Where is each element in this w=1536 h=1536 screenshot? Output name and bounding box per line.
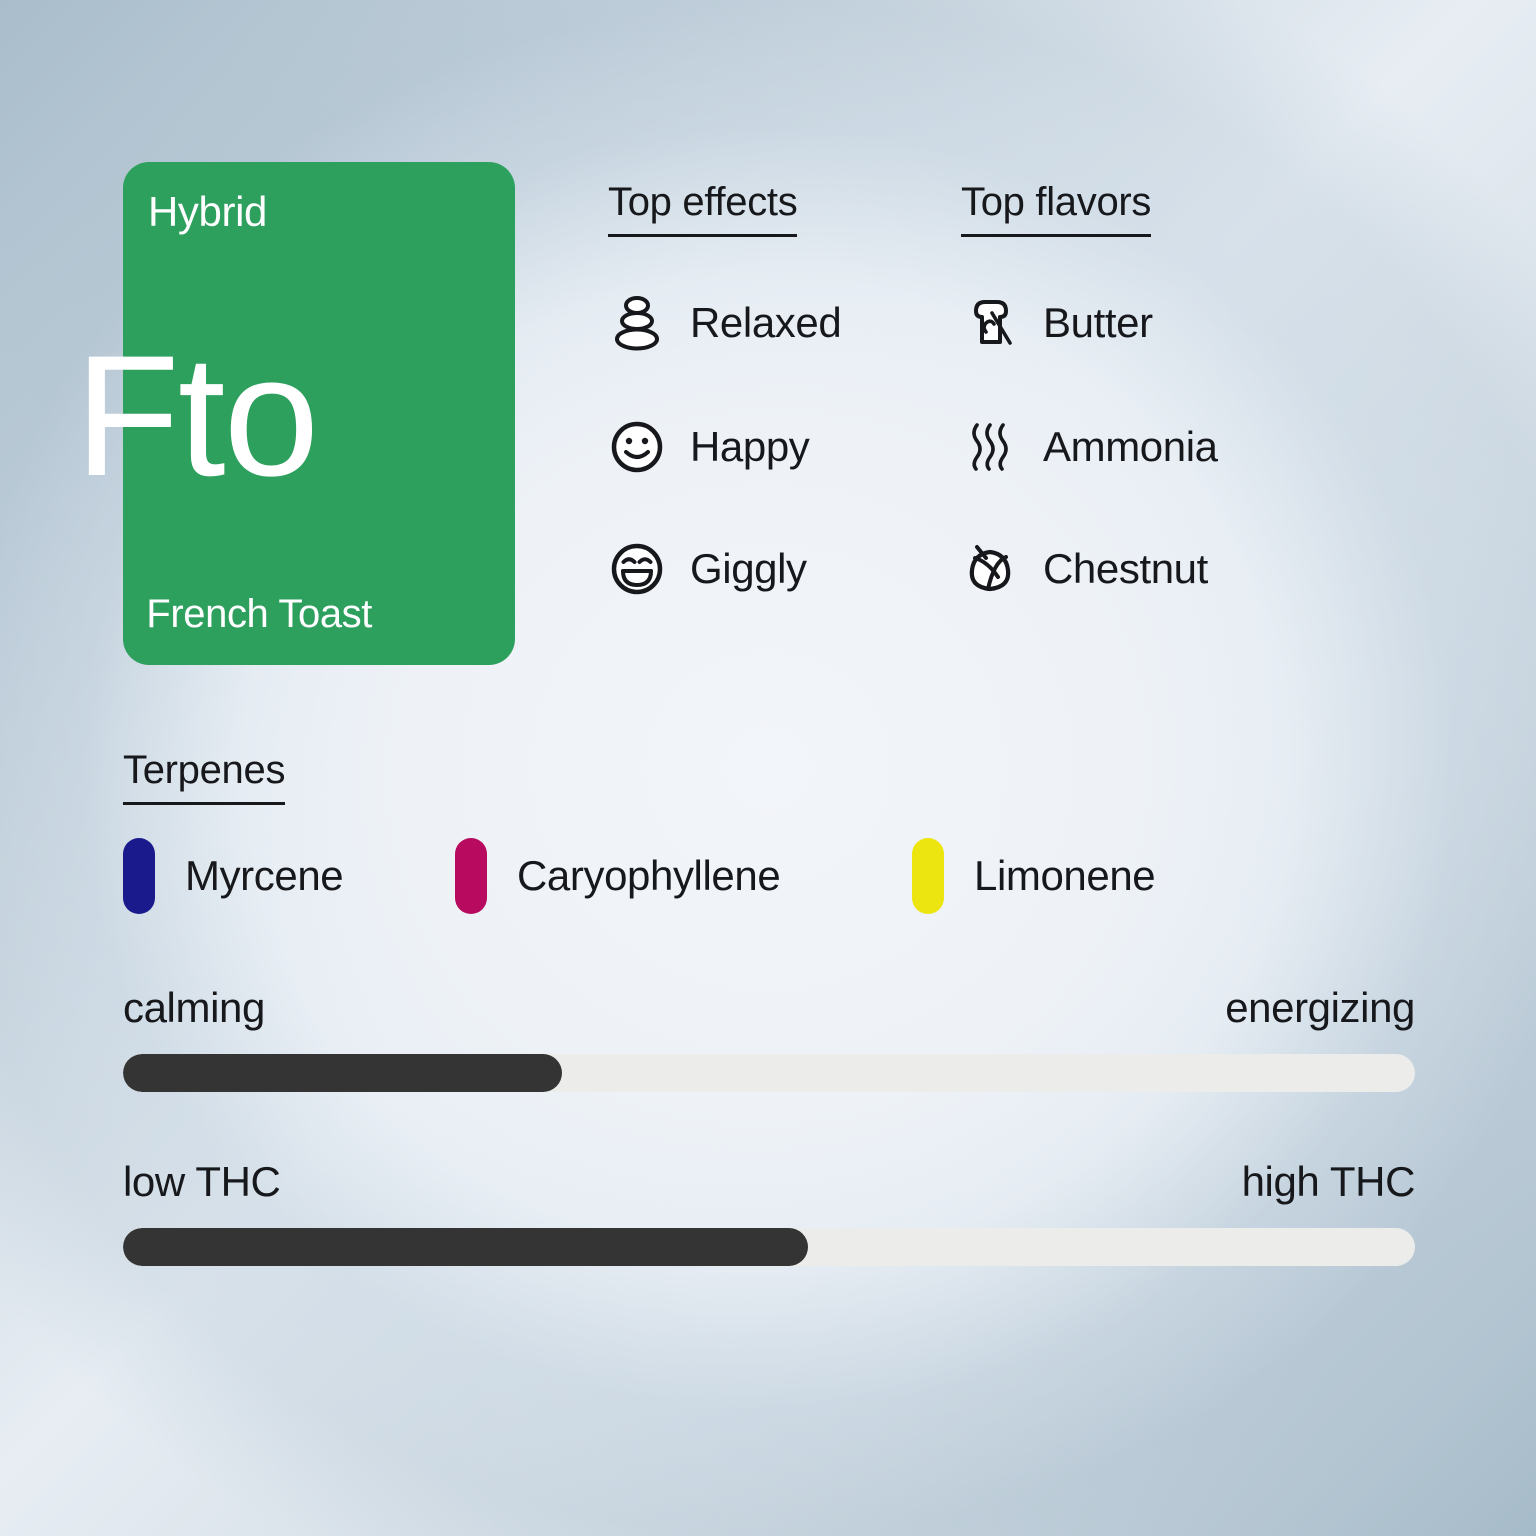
flavor-label: Butter: [1043, 299, 1153, 347]
meter-right-label: high THC: [1242, 1158, 1415, 1206]
meter-fill: [123, 1054, 562, 1092]
effect-label: Relaxed: [690, 299, 841, 347]
terpene-label: Limonene: [974, 852, 1155, 900]
terpene-label: Caryophyllene: [517, 852, 780, 900]
flavor-item-butter[interactable]: Butter: [961, 292, 1153, 354]
terpene-item-caryophyllene[interactable]: Caryophyllene: [455, 838, 780, 914]
chestnut-icon: [961, 540, 1019, 598]
strain-type-label: Hybrid: [148, 188, 267, 236]
flavor-label: Chestnut: [1043, 545, 1208, 593]
terpene-item-myrcene[interactable]: Myrcene: [123, 838, 343, 914]
strain-abbreviation: Fto: [0, 330, 392, 502]
flavor-label: Ammonia: [1043, 423, 1218, 471]
calming-energizing-meter[interactable]: calming energizing: [123, 984, 1415, 1092]
terpene-color-swatch: [123, 838, 155, 914]
terpene-item-limonene[interactable]: Limonene: [912, 838, 1155, 914]
terpene-label: Myrcene: [185, 852, 343, 900]
meter-right-label: energizing: [1225, 984, 1415, 1032]
meter-fill: [123, 1228, 808, 1266]
top-flavors-heading: Top flavors: [961, 180, 1151, 237]
thc-level-meter[interactable]: low THC high THC: [123, 1158, 1415, 1266]
effect-label: Happy: [690, 423, 809, 471]
vapor-waves-icon: [961, 418, 1019, 476]
effect-item-relaxed[interactable]: Relaxed: [608, 292, 841, 354]
terpene-color-swatch: [455, 838, 487, 914]
strain-info-card: Hybrid Fto French Toast Top effects Rela…: [0, 0, 1536, 1536]
top-effects-heading: Top effects: [608, 180, 797, 237]
effect-item-giggly[interactable]: Giggly: [608, 538, 807, 600]
meter-track[interactable]: [123, 1054, 1415, 1092]
meter-left-label: low THC: [123, 1158, 280, 1206]
effect-label: Giggly: [690, 545, 807, 593]
meter-labels: calming energizing: [123, 984, 1415, 1032]
flavor-item-ammonia[interactable]: Ammonia: [961, 416, 1218, 478]
terpene-color-swatch: [912, 838, 944, 914]
flavor-item-chestnut[interactable]: Chestnut: [961, 538, 1208, 600]
meter-left-label: calming: [123, 984, 265, 1032]
smiley-face-icon: [608, 418, 666, 476]
butter-toast-icon: [961, 294, 1019, 352]
terpenes-heading: Terpenes: [123, 748, 285, 805]
stacked-stones-icon: [608, 294, 666, 352]
strain-name: French Toast: [0, 592, 372, 637]
meter-track[interactable]: [123, 1228, 1415, 1266]
effect-item-happy[interactable]: Happy: [608, 416, 809, 478]
laughing-face-icon: [608, 540, 666, 598]
meter-labels: low THC high THC: [123, 1158, 1415, 1206]
